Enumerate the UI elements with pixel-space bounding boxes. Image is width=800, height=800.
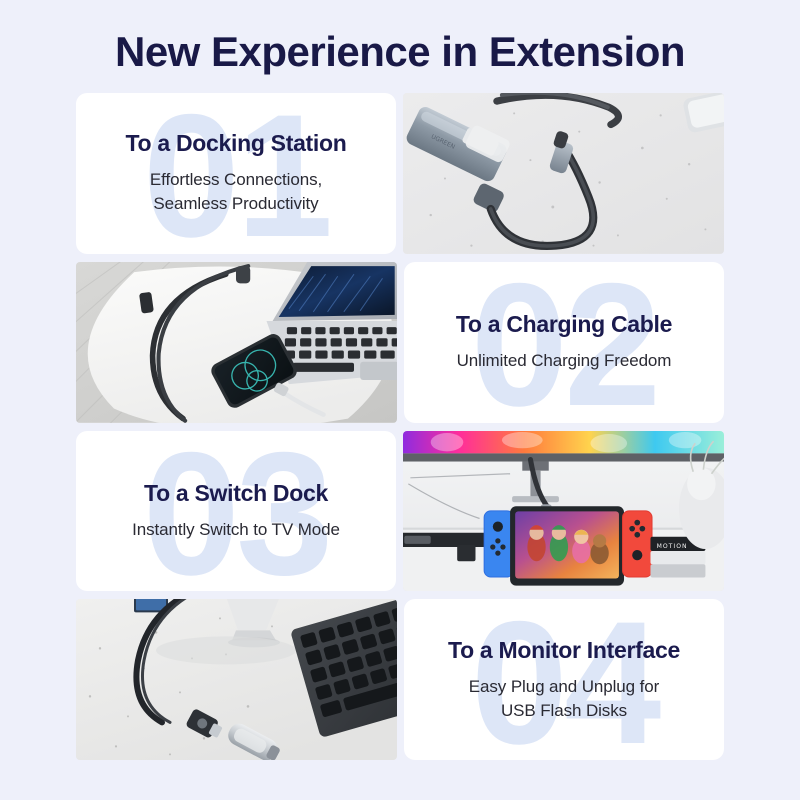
switch-dock-illustration: MOTION <box>403 431 724 592</box>
feature-row-1: 01 To a Docking Station Effortless Conne… <box>76 93 724 254</box>
card-heading: To a Switch Dock <box>132 480 340 507</box>
feature-card-list: 01 To a Docking Station Effortless Conne… <box>76 93 724 760</box>
docking-station-illustration: UGREEN <box>403 93 724 254</box>
feature-card-text-panel-4[interactable]: 04 To a Monitor Interface Easy Plug and … <box>404 599 724 760</box>
feature-card-text-panel-1[interactable]: 01 To a Docking Station Effortless Conne… <box>76 93 396 254</box>
card-subtitle-line-1: Effortless Connections, <box>125 168 346 192</box>
charging-cable-illustration <box>76 262 397 423</box>
monitor-interface-illustration <box>76 599 397 760</box>
svg-text:MOTION: MOTION <box>657 543 688 550</box>
card-subtitle-line-2: Seamless Productivity <box>125 192 346 216</box>
feature-photo-switch-dock: MOTION <box>403 431 724 592</box>
feature-photo-charging-cable <box>76 262 397 423</box>
card-heading: To a Docking Station <box>125 130 346 157</box>
card-text-block: To a Switch Dock Instantly Switch to TV … <box>118 480 354 542</box>
feature-row-3: 03 To a Switch Dock Instantly Switch to … <box>76 431 724 592</box>
card-heading: To a Monitor Interface <box>448 637 680 664</box>
feature-row-4: 04 To a Monitor Interface Easy Plug and … <box>76 599 724 760</box>
card-subtitle-line-1: Easy Plug and Unplug for <box>448 675 680 699</box>
feature-photo-monitor-interface <box>76 599 397 760</box>
feature-row-2: 02 To a Charging Cable Unlimited Chargin… <box>76 262 724 423</box>
feature-photo-docking-station: UGREEN <box>403 93 724 254</box>
card-subtitle-line-1: Instantly Switch to TV Mode <box>132 518 340 542</box>
card-heading: To a Charging Cable <box>456 311 672 338</box>
card-subtitle-line-1: Unlimited Charging Freedom <box>456 349 672 373</box>
card-text-block: To a Monitor Interface Easy Plug and Unp… <box>434 637 694 723</box>
page-title: New Experience in Extension <box>0 28 800 76</box>
card-text-block: To a Docking Station Effortless Connecti… <box>111 130 360 216</box>
feature-card-text-panel-2[interactable]: 02 To a Charging Cable Unlimited Chargin… <box>404 262 724 423</box>
card-text-block: To a Charging Cable Unlimited Charging F… <box>442 311 686 373</box>
feature-card-text-panel-3[interactable]: 03 To a Switch Dock Instantly Switch to … <box>76 431 396 592</box>
card-subtitle-line-2: USB Flash Disks <box>448 699 680 723</box>
